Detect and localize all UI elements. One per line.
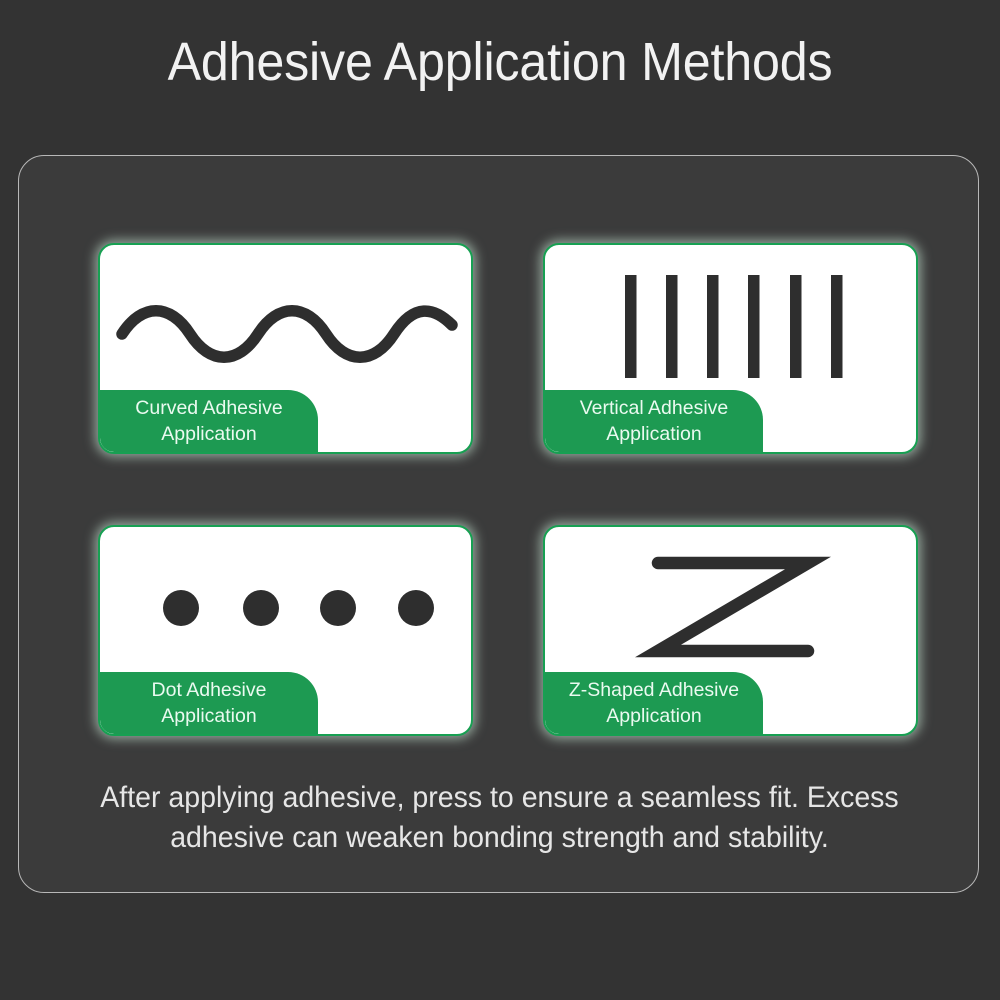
method-card-curved[interactable]: Curved AdhesiveApplication xyxy=(98,243,473,454)
footer-caption: After applying adhesive, press to ensure… xyxy=(64,778,935,858)
card-label-badge: Dot AdhesiveApplication xyxy=(100,672,318,734)
card-label-text: Z-Shaped AdhesiveApplication xyxy=(569,677,739,729)
card-label-text: Curved AdhesiveApplication xyxy=(135,395,282,447)
card-label-badge: Vertical AdhesiveApplication xyxy=(545,390,763,452)
card-label-line2: Application xyxy=(135,421,282,447)
method-card-vertical[interactable]: Vertical AdhesiveApplication xyxy=(543,243,918,454)
method-card-z-shaped[interactable]: Z-Shaped AdhesiveApplication xyxy=(543,525,918,736)
method-card-grid: Curved AdhesiveApplication Ver xyxy=(98,243,918,736)
card-label-badge: Curved AdhesiveApplication xyxy=(100,390,318,452)
vertical-bars-icon xyxy=(545,245,916,400)
card-label-line1: Dot Adhesive xyxy=(152,679,267,701)
wavy-line-icon xyxy=(100,245,471,400)
card-label-line1: Curved Adhesive xyxy=(135,397,282,419)
footer-caption-line1: After applying adhesive, press to ensure… xyxy=(100,781,898,814)
page-title: Adhesive Application Methods xyxy=(35,28,965,96)
card-label-line1: Z-Shaped Adhesive xyxy=(569,679,739,701)
content-panel: Curved AdhesiveApplication Ver xyxy=(18,155,979,893)
z-shape-icon xyxy=(545,527,916,682)
footer-caption-line2: adhesive can weaken bonding strength and… xyxy=(170,821,829,854)
card-label-badge: Z-Shaped AdhesiveApplication xyxy=(545,672,763,734)
card-label-text: Dot AdhesiveApplication xyxy=(152,677,267,729)
method-card-dot[interactable]: Dot AdhesiveApplication xyxy=(98,525,473,736)
card-label-line2: Application xyxy=(569,703,739,729)
card-label-line1: Vertical Adhesive xyxy=(580,397,729,419)
card-label-line2: Application xyxy=(152,703,267,729)
dots-icon xyxy=(100,527,471,682)
card-label-text: Vertical AdhesiveApplication xyxy=(580,395,729,447)
card-label-line2: Application xyxy=(580,421,729,447)
